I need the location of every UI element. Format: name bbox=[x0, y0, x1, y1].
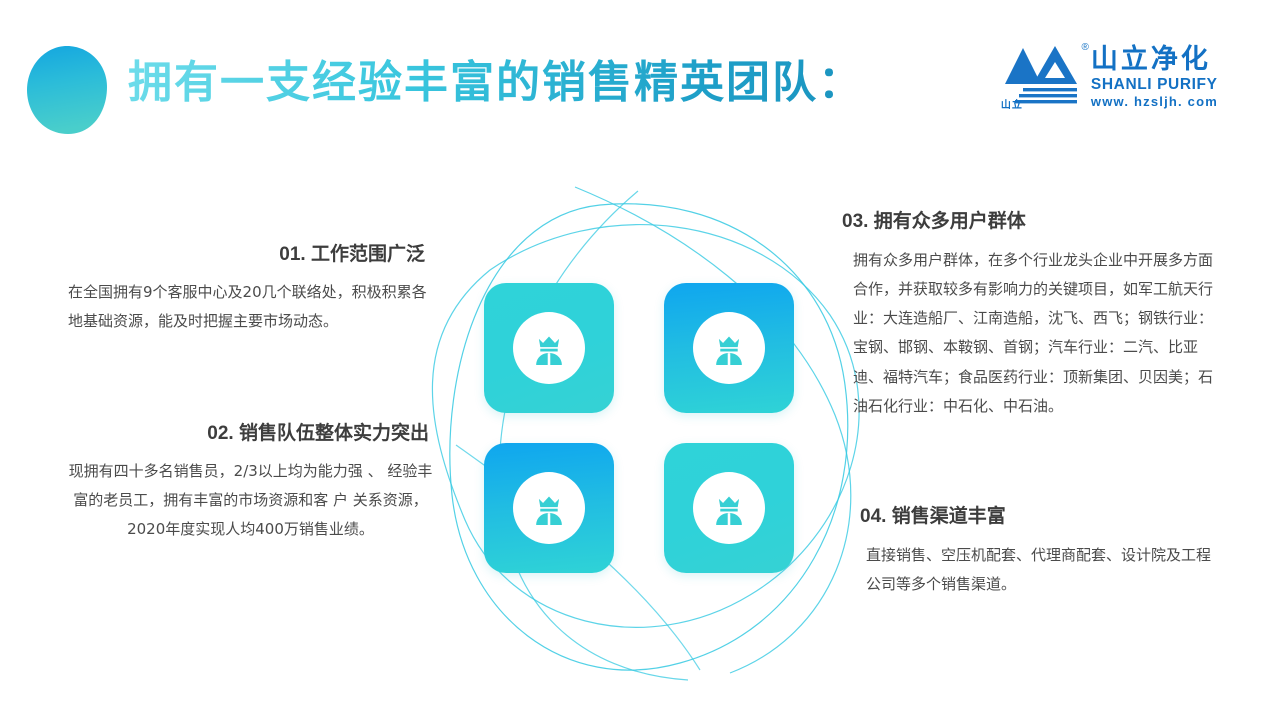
feature-body-04: 直接销售、空压机配套、代理商配套、设计院及工程公司等多个销售渠道。 bbox=[860, 541, 1220, 600]
logo-website-url: www. hzsljh. com bbox=[1091, 95, 1218, 108]
company-logo: ® 山立 山立净化 SHANLI PURIFY www. hzsljh. com bbox=[1001, 40, 1218, 110]
feature-body-02: 现拥有四十多名销售员，2/3以上均为能力强 、 经验丰富的老员工，拥有丰富的市场… bbox=[68, 457, 433, 545]
registered-trademark-icon: ® bbox=[1082, 42, 1089, 53]
feature-heading-02: 02. 销售队伍整体实力突出 bbox=[68, 422, 433, 447]
feature-tile-2[interactable] bbox=[664, 283, 794, 413]
feature-heading-04: 04. 销售渠道丰富 bbox=[860, 505, 1220, 530]
crown-person-icon bbox=[513, 472, 585, 544]
feature-title-01: 工作范围广泛 bbox=[311, 244, 425, 265]
feature-heading-03: 03. 拥有众多用户群体 bbox=[842, 210, 1214, 235]
feature-block-01: 01. 工作范围广泛 在全国拥有9个客服中心及20几个联络处，积极积累各地基础资… bbox=[68, 243, 433, 336]
feature-title-04: 销售渠道丰富 bbox=[892, 506, 1006, 527]
crown-person-icon bbox=[693, 472, 765, 544]
feature-block-03: 03. 拥有众多用户群体 拥有众多用户群体，在多个行业龙头企业中开展多方面合作，… bbox=[842, 210, 1214, 421]
slide-canvas: 拥有一支经验丰富的销售精英团队： ® 山立 山立净化 SHANLI PURIFY… bbox=[0, 0, 1280, 720]
feature-tile-1[interactable] bbox=[484, 283, 614, 413]
crown-person-icon bbox=[513, 312, 585, 384]
feature-body-01: 在全国拥有9个客服中心及20几个联络处，积极积累各地基础资源，能及时把握主要市场… bbox=[68, 278, 433, 337]
blob-shape-icon bbox=[26, 44, 108, 136]
feature-title-02: 销售队伍整体实力突出 bbox=[239, 423, 429, 444]
feature-title-03: 拥有众多用户群体 bbox=[874, 211, 1026, 232]
page-title: 拥有一支经验丰富的销售精英团队： bbox=[128, 57, 864, 110]
feature-number-03: 03. bbox=[842, 211, 868, 232]
feature-number-01: 01. bbox=[279, 244, 305, 265]
feature-tile-grid bbox=[484, 283, 794, 573]
logo-name-en: SHANLI PURIFY bbox=[1091, 77, 1218, 93]
mountain-logo-icon: ® 山立 bbox=[1001, 40, 1083, 110]
feature-block-04: 04. 销售渠道丰富 直接销售、空压机配套、代理商配套、设计院及工程公司等多个销… bbox=[860, 505, 1220, 599]
logo-text-group: 山立净化 SHANLI PURIFY www. hzsljh. com bbox=[1091, 46, 1218, 111]
feature-heading-01: 01. 工作范围广泛 bbox=[68, 243, 433, 268]
feature-body-03: 拥有众多用户群体，在多个行业龙头企业中开展多方面合作，并获取较多有影响力的关键项… bbox=[842, 246, 1214, 422]
feature-block-02: 02. 销售队伍整体实力突出 现拥有四十多名销售员，2/3以上均为能力强 、 经… bbox=[68, 422, 433, 544]
feature-tile-4[interactable] bbox=[664, 443, 794, 573]
feature-tile-3[interactable] bbox=[484, 443, 614, 573]
feature-number-04: 04. bbox=[860, 506, 886, 527]
logo-mark-label: 山立 bbox=[1001, 96, 1023, 111]
feature-number-02: 02. bbox=[207, 423, 233, 444]
logo-name-cn: 山立净化 bbox=[1091, 46, 1218, 73]
crown-person-icon bbox=[693, 312, 765, 384]
